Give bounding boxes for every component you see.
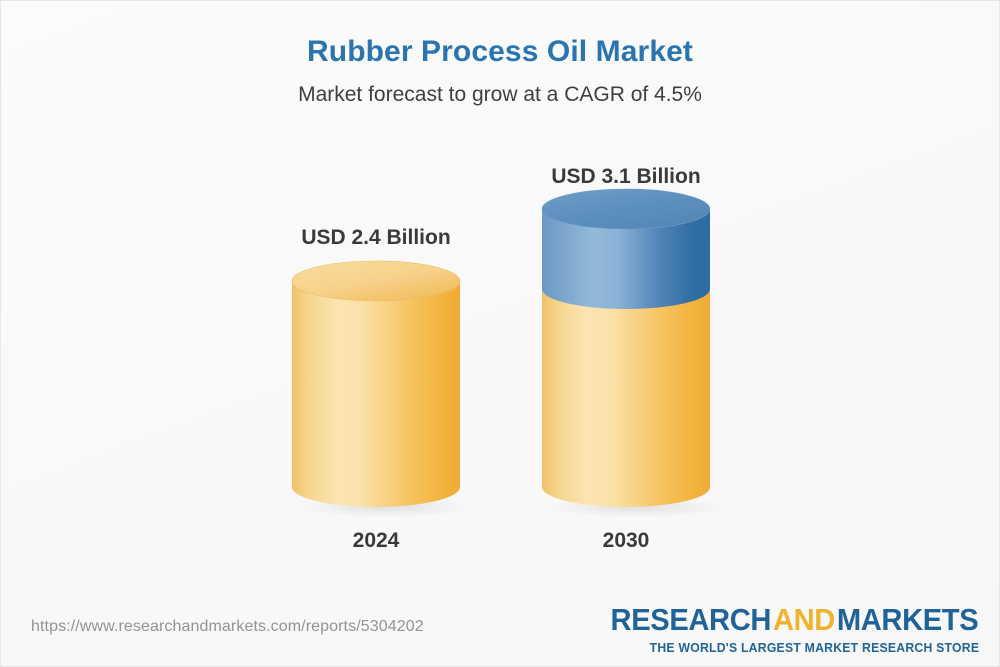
brand-research-text: RESEARCH — [610, 602, 771, 637]
brand-wordmark: RESEARCHANDMARKETS — [609, 604, 979, 635]
brand-logo: RESEARCHANDMARKETS THE WORLD'S LARGEST M… — [586, 604, 979, 655]
brand-markets-text: MARKETS — [837, 602, 978, 637]
bar-value-label-2024: USD 2.4 Billion — [266, 226, 486, 250]
infographic-canvas: Rubber Process Oil Market Market forecas… — [0, 0, 1000, 667]
brand-tagline: THE WORLD'S LARGEST MARKET RESEARCH STOR… — [598, 642, 979, 655]
cylinder-bar-2030 — [532, 187, 720, 521]
footer: https://www.researchandmarkets.com/repor… — [1, 596, 1000, 666]
bar-top-2024 — [292, 261, 460, 301]
bar-top-2030 — [542, 189, 710, 229]
source-url-link[interactable]: https://www.researchandmarkets.com/repor… — [31, 618, 424, 636]
cylinder-bar-2024 — [282, 259, 470, 521]
bar-year-label-2024: 2024 — [266, 529, 486, 553]
bar-year-label-2030: 2030 — [516, 529, 736, 553]
brand-and-text: AND — [773, 602, 835, 637]
chart-plot-area: USD 2.4 Billion — [1, 1, 1000, 601]
bar-value-label-2030: USD 3.1 Billion — [516, 165, 736, 189]
bar-body-2024 — [292, 281, 460, 507]
bar-body-base-2030 — [542, 289, 710, 507]
